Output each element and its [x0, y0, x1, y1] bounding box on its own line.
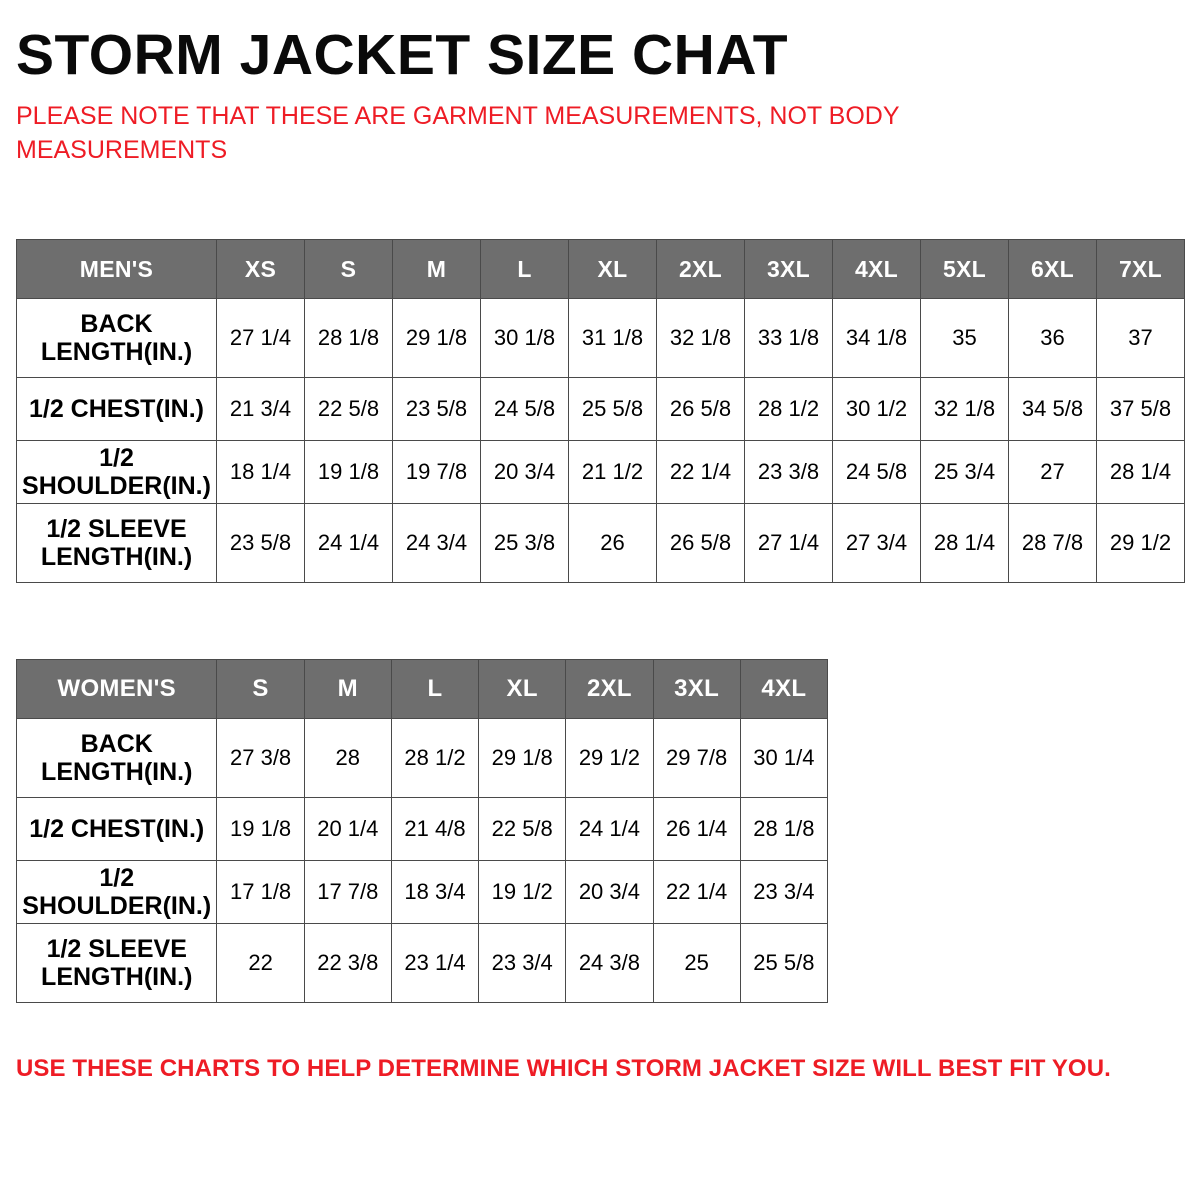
table-cell: 22 3/8: [304, 924, 391, 1003]
womens-table-head: WOMEN'S S M L XL 2XL 3XL 4XL: [17, 660, 828, 719]
womens-corner-label: WOMEN'S: [17, 660, 217, 719]
table-cell: 30 1/8: [481, 299, 569, 378]
mens-col-m: M: [393, 240, 481, 299]
womens-row-label-half-shoulder: 1/2 SHOULDER(IN.): [17, 861, 217, 924]
table-cell: 36: [1009, 299, 1097, 378]
table-cell: 25 5/8: [569, 378, 657, 441]
mens-col-xl: XL: [569, 240, 657, 299]
womens-col-4xl: 4XL: [740, 660, 827, 719]
table-cell: 20 3/4: [566, 861, 653, 924]
table-cell: 37: [1097, 299, 1185, 378]
table-cell: 22: [217, 924, 304, 1003]
womens-size-table: WOMEN'S S M L XL 2XL 3XL 4XL BACK LENGTH…: [16, 659, 828, 1003]
table-cell: 34 5/8: [1009, 378, 1097, 441]
row-label-line: LENGTH(IN.): [19, 338, 214, 366]
table-cell: 26: [569, 504, 657, 583]
table-row: 1/2 SLEEVE LENGTH(IN.) 23 5/8 24 1/4 24 …: [17, 504, 1185, 583]
table-cell: 18 1/4: [217, 441, 305, 504]
mens-table-head: MEN'S XS S M L XL 2XL 3XL 4XL 5XL 6XL 7X…: [17, 240, 1185, 299]
table-cell: 28 1/2: [391, 719, 478, 798]
table-cell: 32 1/8: [921, 378, 1009, 441]
table-cell: 29 1/8: [393, 299, 481, 378]
table-cell: 22 5/8: [479, 798, 566, 861]
table-cell: 19 1/2: [479, 861, 566, 924]
table-cell: 25 5/8: [740, 924, 827, 1003]
table-cell: 29 1/8: [479, 719, 566, 798]
womens-col-xl: XL: [479, 660, 566, 719]
mens-header-row: MEN'S XS S M L XL 2XL 3XL 4XL 5XL 6XL 7X…: [17, 240, 1185, 299]
page-title: STORM JACKET SIZE CHAT: [16, 0, 1184, 86]
table-cell: 17 7/8: [304, 861, 391, 924]
table-cell: 30 1/4: [740, 719, 827, 798]
mens-col-s: S: [305, 240, 393, 299]
table-cell: 28 1/8: [740, 798, 827, 861]
usage-note: USE THESE CHARTS TO HELP DETERMINE WHICH…: [16, 1055, 1111, 1083]
table-cell: 20 1/4: [304, 798, 391, 861]
womens-table-body: BACK LENGTH(IN.) 27 3/8 28 28 1/2 29 1/8…: [17, 719, 828, 1003]
table-cell: 25: [653, 924, 740, 1003]
row-label-line: 1/2 SHOULDER(IN.): [19, 864, 214, 920]
table-cell: 37 5/8: [1097, 378, 1185, 441]
table-cell: 23 1/4: [391, 924, 478, 1003]
womens-col-2xl: 2XL: [566, 660, 653, 719]
table-cell: 19 1/8: [217, 798, 304, 861]
row-label-line: 1/2 SLEEVE: [19, 935, 214, 963]
womens-col-3xl: 3XL: [653, 660, 740, 719]
row-label-line: LENGTH(IN.): [19, 963, 214, 991]
table-cell: 35: [921, 299, 1009, 378]
table-cell: 23 3/4: [740, 861, 827, 924]
table-cell: 27 1/4: [745, 504, 833, 583]
row-label-line: LENGTH(IN.): [19, 543, 214, 571]
table-cell: 27 3/4: [833, 504, 921, 583]
table-row: 1/2 CHEST(IN.) 21 3/4 22 5/8 23 5/8 24 5…: [17, 378, 1185, 441]
womens-size-table-wrapper: WOMEN'S S M L XL 2XL 3XL 4XL BACK LENGTH…: [16, 583, 1184, 1003]
table-cell: 17 1/8: [217, 861, 304, 924]
table-cell: 23 5/8: [217, 504, 305, 583]
garment-measurement-note: PLEASE NOTE THAT THESE ARE GARMENT MEASU…: [16, 86, 976, 168]
table-cell: 23 3/4: [479, 924, 566, 1003]
row-label-line: LENGTH(IN.): [19, 758, 214, 786]
womens-row-label-half-chest: 1/2 CHEST(IN.): [17, 798, 217, 861]
table-cell: 24 1/4: [305, 504, 393, 583]
table-cell: 24 3/8: [566, 924, 653, 1003]
size-chart-page: STORM JACKET SIZE CHAT PLEASE NOTE THAT …: [0, 0, 1200, 1200]
mens-col-4xl: 4XL: [833, 240, 921, 299]
table-cell: 33 1/8: [745, 299, 833, 378]
table-cell: 26 1/4: [653, 798, 740, 861]
mens-col-2xl: 2XL: [657, 240, 745, 299]
table-cell: 32 1/8: [657, 299, 745, 378]
row-label-line: BACK: [19, 730, 214, 758]
table-cell: 24 1/4: [566, 798, 653, 861]
table-cell: 30 1/2: [833, 378, 921, 441]
table-cell: 21 4/8: [391, 798, 478, 861]
womens-col-l: L: [391, 660, 478, 719]
table-row: BACK LENGTH(IN.) 27 1/4 28 1/8 29 1/8 30…: [17, 299, 1185, 378]
table-cell: 22 5/8: [305, 378, 393, 441]
table-cell: 24 5/8: [481, 378, 569, 441]
mens-col-5xl: 5XL: [921, 240, 1009, 299]
mens-row-label-back-length: BACK LENGTH(IN.): [17, 299, 217, 378]
table-cell: 28: [304, 719, 391, 798]
mens-size-table: MEN'S XS S M L XL 2XL 3XL 4XL 5XL 6XL 7X…: [16, 239, 1185, 583]
table-cell: 19 1/8: [305, 441, 393, 504]
table-row: 1/2 SHOULDER(IN.) 17 1/8 17 7/8 18 3/4 1…: [17, 861, 828, 924]
table-cell: 28 1/2: [745, 378, 833, 441]
womens-header-row: WOMEN'S S M L XL 2XL 3XL 4XL: [17, 660, 828, 719]
table-cell: 27 1/4: [217, 299, 305, 378]
table-cell: 28 1/4: [1097, 441, 1185, 504]
table-cell: 27: [1009, 441, 1097, 504]
table-cell: 31 1/8: [569, 299, 657, 378]
womens-row-label-half-sleeve-length: 1/2 SLEEVE LENGTH(IN.): [17, 924, 217, 1003]
mens-size-table-wrapper: MEN'S XS S M L XL 2XL 3XL 4XL 5XL 6XL 7X…: [16, 167, 1184, 583]
table-row: 1/2 SHOULDER(IN.) 18 1/4 19 1/8 19 7/8 2…: [17, 441, 1185, 504]
mens-table-body: BACK LENGTH(IN.) 27 1/4 28 1/8 29 1/8 30…: [17, 299, 1185, 583]
table-cell: 27 3/8: [217, 719, 304, 798]
mens-col-3xl: 3XL: [745, 240, 833, 299]
mens-col-xs: XS: [217, 240, 305, 299]
mens-col-7xl: 7XL: [1097, 240, 1185, 299]
table-cell: 21 3/4: [217, 378, 305, 441]
row-label-line: 1/2 SHOULDER(IN.): [19, 444, 214, 500]
table-cell: 18 3/4: [391, 861, 478, 924]
table-cell: 23 5/8: [393, 378, 481, 441]
table-cell: 20 3/4: [481, 441, 569, 504]
table-cell: 24 3/4: [393, 504, 481, 583]
mens-row-label-half-shoulder: 1/2 SHOULDER(IN.): [17, 441, 217, 504]
womens-col-m: M: [304, 660, 391, 719]
table-cell: 21 1/2: [569, 441, 657, 504]
table-cell: 29 1/2: [1097, 504, 1185, 583]
table-cell: 28 7/8: [1009, 504, 1097, 583]
womens-col-s: S: [217, 660, 304, 719]
table-cell: 23 3/8: [745, 441, 833, 504]
table-cell: 19 7/8: [393, 441, 481, 504]
mens-row-label-half-sleeve-length: 1/2 SLEEVE LENGTH(IN.): [17, 504, 217, 583]
table-cell: 22 1/4: [657, 441, 745, 504]
row-label-line: 1/2 CHEST(IN.): [19, 815, 214, 843]
table-row: 1/2 CHEST(IN.) 19 1/8 20 1/4 21 4/8 22 5…: [17, 798, 828, 861]
table-row: 1/2 SLEEVE LENGTH(IN.) 22 22 3/8 23 1/4 …: [17, 924, 828, 1003]
mens-col-l: L: [481, 240, 569, 299]
row-label-line: 1/2 CHEST(IN.): [19, 395, 214, 423]
row-label-line: 1/2 SLEEVE: [19, 515, 214, 543]
table-cell: 29 7/8: [653, 719, 740, 798]
table-cell: 28 1/8: [305, 299, 393, 378]
table-cell: 24 5/8: [833, 441, 921, 504]
table-cell: 34 1/8: [833, 299, 921, 378]
table-cell: 26 5/8: [657, 504, 745, 583]
mens-corner-label: MEN'S: [17, 240, 217, 299]
mens-row-label-half-chest: 1/2 CHEST(IN.): [17, 378, 217, 441]
table-cell: 22 1/4: [653, 861, 740, 924]
womens-row-label-back-length: BACK LENGTH(IN.): [17, 719, 217, 798]
table-cell: 25 3/8: [481, 504, 569, 583]
mens-col-6xl: 6XL: [1009, 240, 1097, 299]
row-label-line: BACK: [19, 310, 214, 338]
table-cell: 29 1/2: [566, 719, 653, 798]
table-row: BACK LENGTH(IN.) 27 3/8 28 28 1/2 29 1/8…: [17, 719, 828, 798]
table-cell: 26 5/8: [657, 378, 745, 441]
table-cell: 28 1/4: [921, 504, 1009, 583]
table-cell: 25 3/4: [921, 441, 1009, 504]
